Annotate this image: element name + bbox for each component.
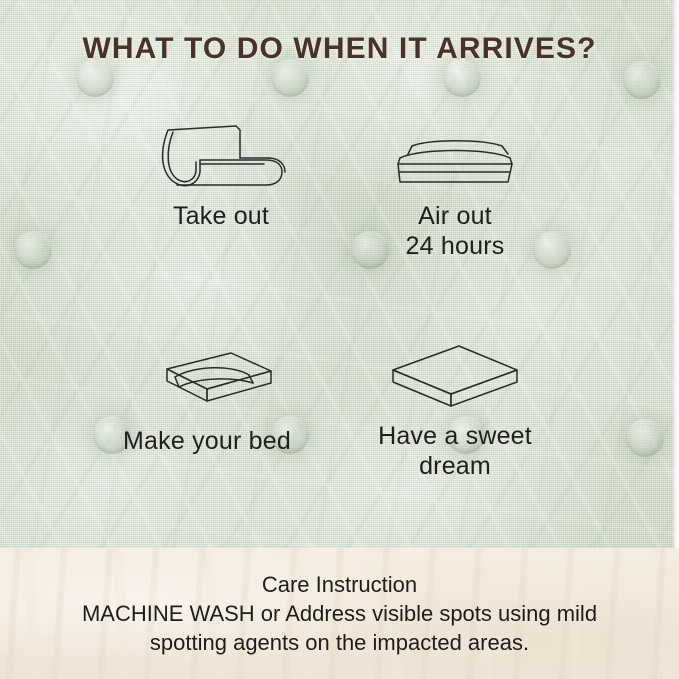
step-sweet-dream-label-line-2: dream [330, 452, 580, 482]
step-make-bed-icon-wrap [82, 335, 332, 427]
step-air-out-label: Air out 24 hours [330, 202, 580, 261]
step-air-out-label-line-2: 24 hours [330, 232, 580, 262]
right-edge-strip [673, 0, 679, 548]
tufting-button [623, 61, 661, 99]
flat-mattress-front-icon [390, 120, 520, 192]
step-take-out-label: Take out [96, 202, 346, 232]
tufting-button [626, 419, 664, 457]
step-take-out: Take out [96, 110, 346, 232]
step-make-bed-label: Make your bed [82, 427, 332, 457]
step-make-bed-label-line-1: Make your bed [82, 427, 332, 457]
tufting-button [14, 231, 52, 269]
step-sweet-dream-label-line-1: Have a sweet [330, 422, 580, 452]
mattress-with-sheet-icon [137, 343, 277, 419]
step-take-out-icon-wrap [96, 110, 346, 202]
care-instruction-text: Care Instruction MACHINE WASH or Address… [0, 548, 679, 657]
rolled-mattress-icon [156, 116, 286, 196]
mattress-slab-icon [385, 336, 525, 416]
page-title: WHAT TO DO WHEN IT ARRIVES? [0, 32, 679, 66]
step-air-out-label-line-1: Air out [330, 202, 580, 232]
step-air-out: Air out 24 hours [330, 110, 580, 261]
step-sweet-dream-icon-wrap [330, 330, 580, 422]
care-instruction-panel: Care Instruction MACHINE WASH or Address… [0, 548, 679, 679]
care-instruction-title: Care Instruction [0, 570, 679, 599]
step-take-out-label-line-1: Take out [96, 202, 346, 232]
care-infographic: WHAT TO DO WHEN IT ARRIVES? [0, 0, 679, 679]
step-sweet-dream-label: Have a sweet dream [330, 422, 580, 481]
care-instruction-line-2: spotting agents on the impacted areas. [0, 628, 679, 657]
care-instruction-line-1: MACHINE WASH or Address visible spots us… [0, 599, 679, 628]
step-sweet-dream: Have a sweet dream [330, 330, 580, 481]
step-air-out-icon-wrap [330, 110, 580, 202]
step-make-bed: Make your bed [82, 335, 332, 457]
